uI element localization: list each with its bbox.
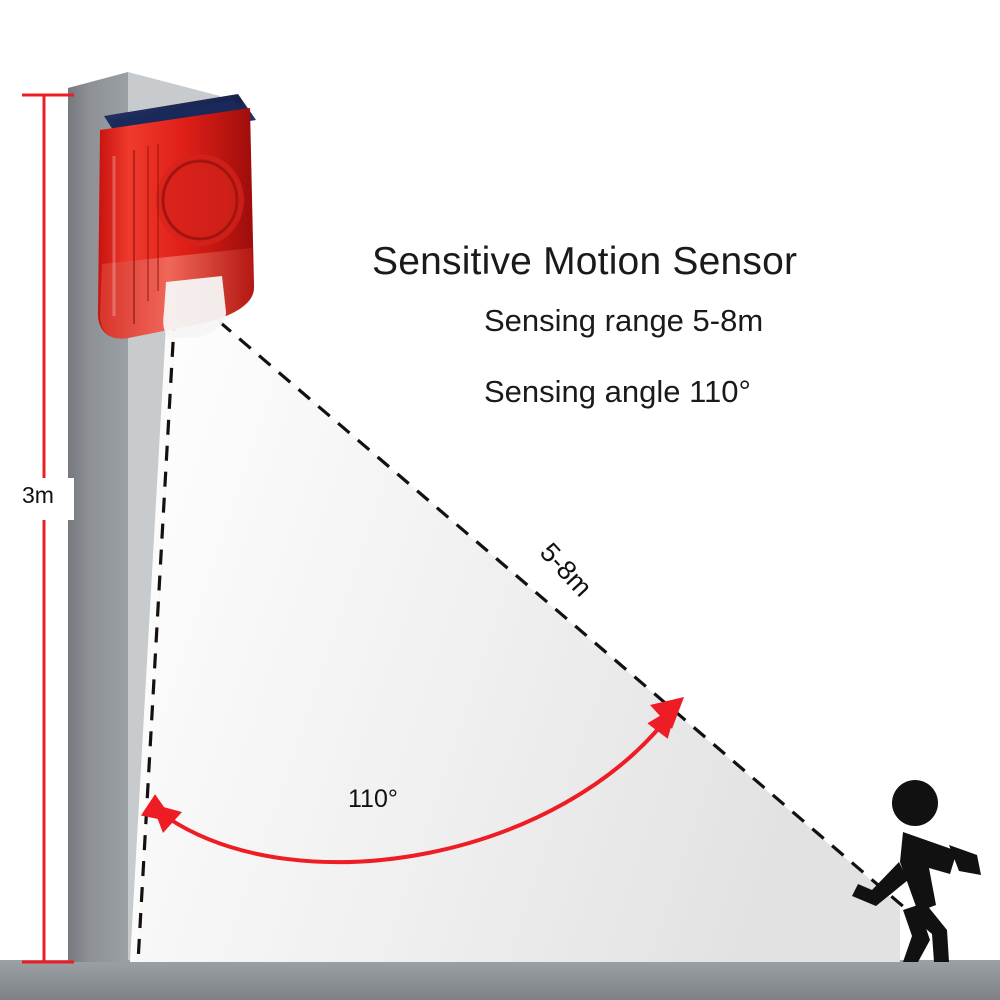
diagram-canvas: Sensitive Motion Sensor Sensing range 5-…: [0, 0, 1000, 1000]
pir-lens: [163, 276, 226, 338]
spec-sensing-range: Sensing range 5-8m: [484, 303, 763, 339]
spec-sensing-angle: Sensing angle 110°: [484, 374, 751, 410]
detection-angle-label: 110°: [348, 785, 398, 814]
diagram-title: Sensitive Motion Sensor: [372, 240, 797, 284]
ground-strip: [0, 960, 1000, 1000]
mount-height-label: 3m: [22, 482, 54, 509]
siren-speaker: [156, 154, 244, 246]
solar-motion-sensor-device: [88, 86, 260, 358]
